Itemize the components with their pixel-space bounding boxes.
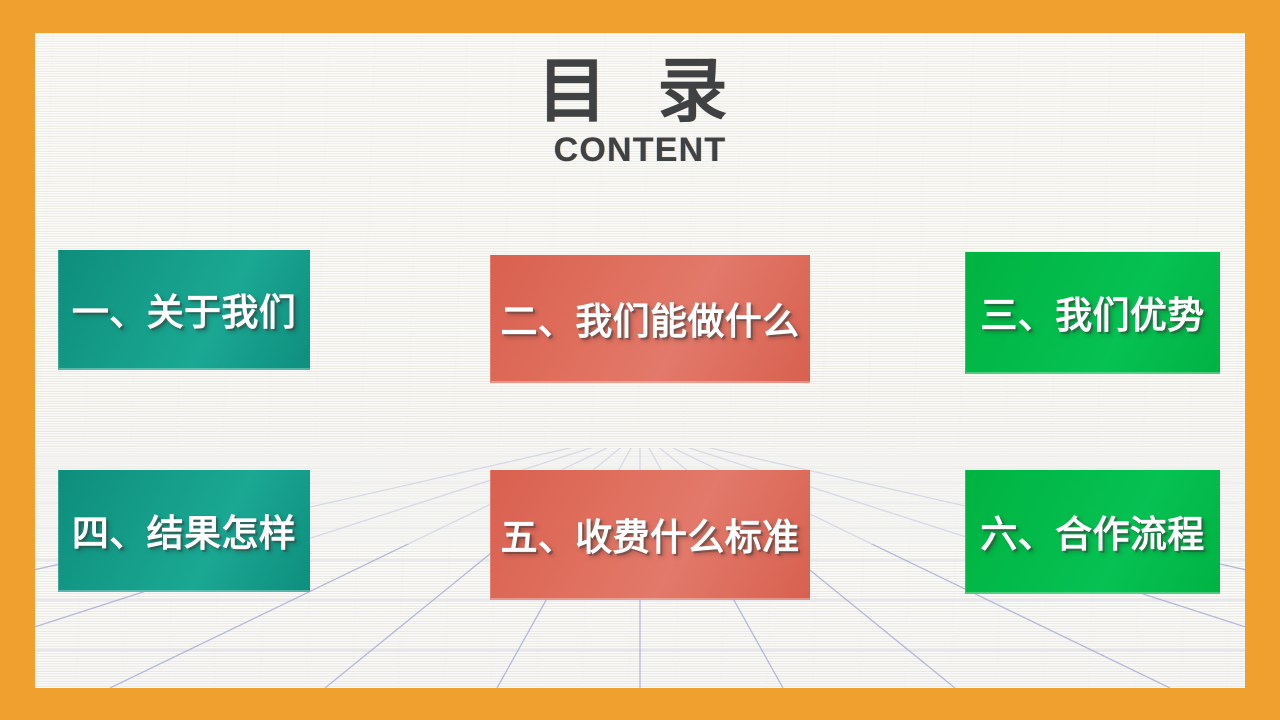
toc-item-4-label: 四、结果怎样 bbox=[72, 503, 296, 557]
toc-item-5[interactable]: 五、收费什么标准 bbox=[490, 470, 810, 600]
toc-item-1[interactable]: 一、关于我们 bbox=[58, 250, 310, 370]
title-block: 目 录 CONTENT bbox=[35, 55, 1245, 170]
toc-item-2[interactable]: 二、我们能做什么 bbox=[490, 255, 810, 383]
toc-item-5-label: 五、收费什么标准 bbox=[501, 507, 800, 561]
toc-item-6[interactable]: 六、合作流程 bbox=[965, 470, 1220, 594]
toc-item-6-label: 六、合作流程 bbox=[980, 504, 1204, 558]
page-title-chinese: 目 录 bbox=[35, 55, 1245, 129]
toc-item-3[interactable]: 三、我们优势 bbox=[965, 252, 1220, 374]
slide-content-panel: 目 录 CONTENT 一、关于我们 二、我们能做什么 三、我们优势 四、结果怎… bbox=[35, 33, 1245, 688]
toc-item-4[interactable]: 四、结果怎样 bbox=[58, 470, 310, 592]
toc-item-3-label: 三、我们优势 bbox=[980, 285, 1204, 339]
slide-root: 目 录 CONTENT 一、关于我们 二、我们能做什么 三、我们优势 四、结果怎… bbox=[0, 0, 1280, 720]
page-title-english: CONTENT bbox=[35, 131, 1245, 170]
toc-item-1-label: 一、关于我们 bbox=[72, 282, 296, 336]
toc-item-2-label: 二、我们能做什么 bbox=[501, 291, 800, 345]
